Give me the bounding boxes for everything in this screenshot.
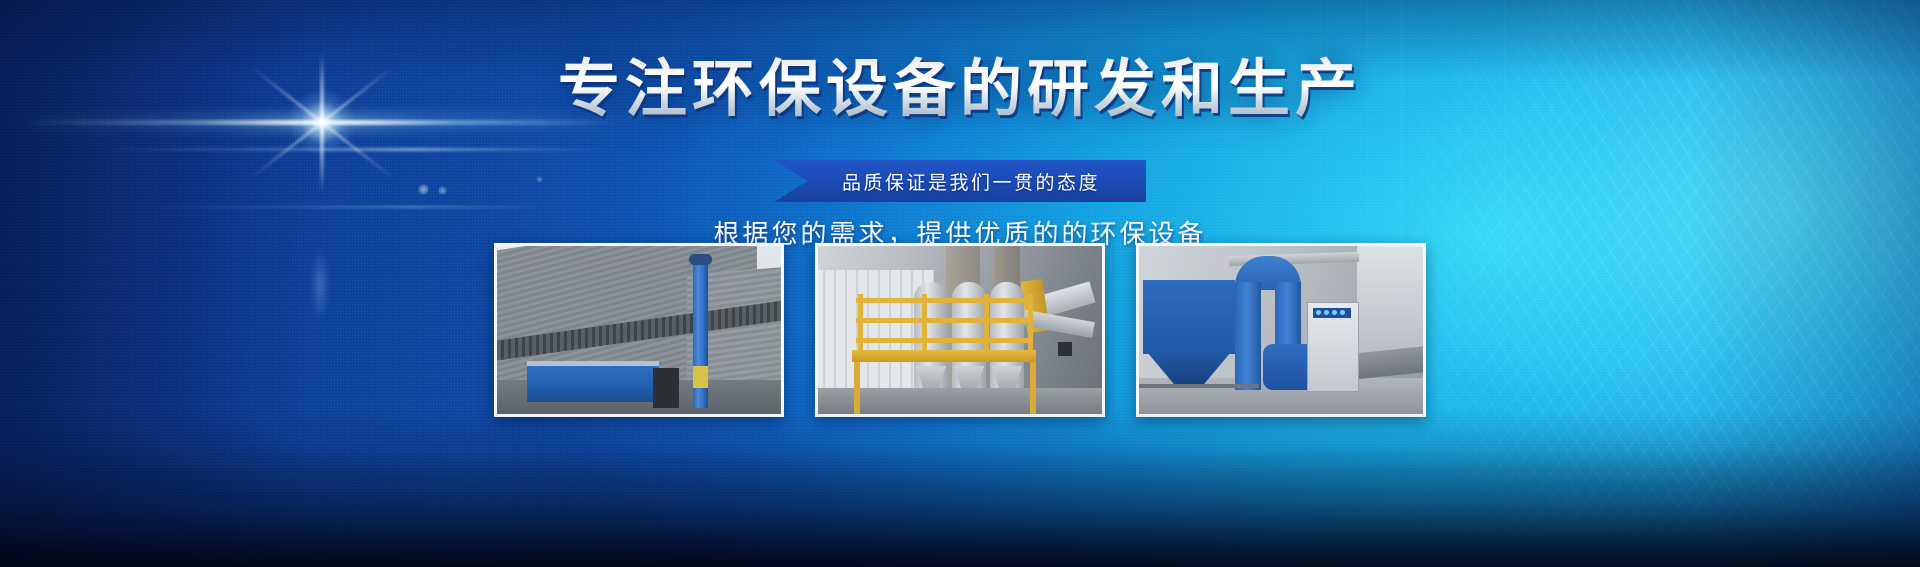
photo-factory-exterior-stack bbox=[494, 243, 784, 417]
ribbon-label: 品质保证是我们一贯的态度 bbox=[820, 168, 1100, 195]
banner-headline: 专注环保设备的研发和生产 bbox=[0, 56, 1920, 121]
photo-cyclone-dust-collector bbox=[1136, 243, 1426, 417]
photo-scrubber-tower-platform bbox=[815, 243, 1105, 417]
subtitle-ribbon: 品质保证是我们一贯的态度 bbox=[774, 160, 1146, 202]
photo-strip bbox=[0, 243, 1920, 417]
hero-banner: 专注环保设备的研发和生产 品质保证是我们一贯的态度 根据您的需求，提供优质的的环… bbox=[0, 0, 1920, 567]
banner-content: 专注环保设备的研发和生产 品质保证是我们一贯的态度 根据您的需求，提供优质的的环… bbox=[0, 0, 1920, 567]
ribbon-container: 品质保证是我们一贯的态度 bbox=[0, 160, 1920, 202]
